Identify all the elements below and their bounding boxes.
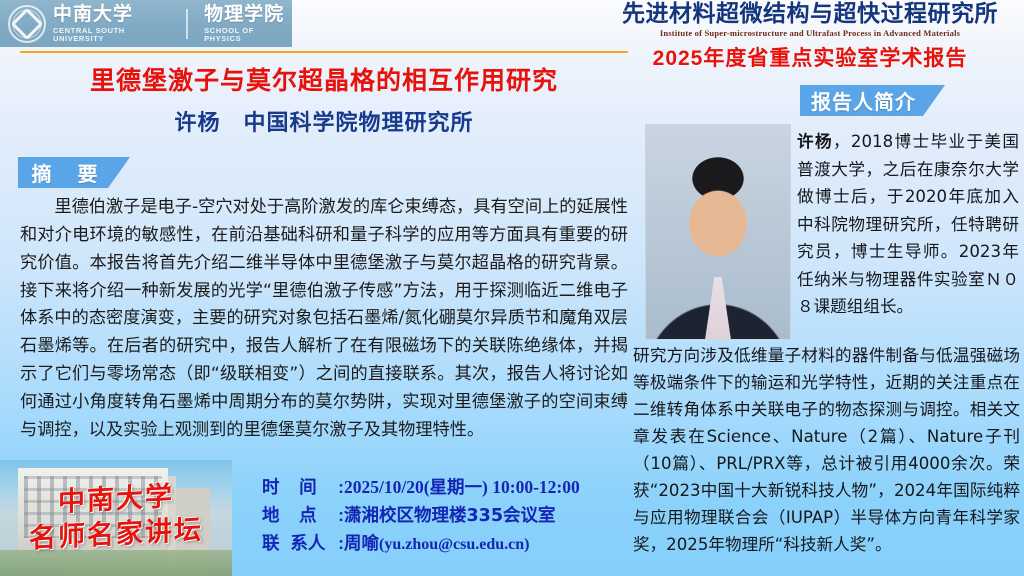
event-contact-email[interactable]: (yu.zhou@csu.edu.cn) <box>379 532 529 557</box>
forum-banner-text: 中南大学 名师名家讲坛 <box>0 476 232 557</box>
school-name-cn: 物理学院 <box>204 5 292 24</box>
csu-seal-icon <box>8 5 46 43</box>
bio-head-rest: ，2018博士毕业于美国普渡大学，之后在康奈尔大学做博士后，于2020年底加入中… <box>797 132 1019 316</box>
talk-speaker-affiliation: 许杨 中国科学院物理研究所 <box>18 105 630 137</box>
institute-name-cn: 先进材料超微结构与超快过程研究所 <box>600 1 1020 26</box>
talk-heading: 里德堡激子与莫尔超晶格的相互作用研究 许杨 中国科学院物理研究所 <box>18 66 630 137</box>
event-time-row: 时 间 : 2025/10/20(星期一) 10:00-12:00 <box>262 474 580 502</box>
brand-divider <box>186 9 188 39</box>
talk-title: 里德堡激子与莫尔超晶格的相互作用研究 <box>18 66 630 97</box>
abstract-text: 里德伯激子是电子-空穴对处于高阶激发的库仑束缚态，具有空间上的延展性和对介电环境… <box>20 194 628 445</box>
event-place-label: 地 点 : <box>262 502 344 530</box>
bio-text-head: 许杨，2018博士毕业于美国普渡大学，之后在康奈尔大学做博士后，于2020年底加… <box>797 128 1019 321</box>
gold-divider-rule <box>20 51 628 53</box>
institute-heading: 先进材料超微结构与超快过程研究所 Institute of Super-micr… <box>600 1 1020 72</box>
event-contact-name: 周喻 <box>344 531 379 559</box>
bio-text-body: 研究方向涉及低维量子材料的器件制备与低温强磁场等极端条件下的输运和光学特性，近期… <box>633 342 1020 558</box>
university-logo-band: 中南大学 CENTRAL SOUTH UNIVERSITY 物理学院 SCHOO… <box>0 0 292 47</box>
bio-section-tab: 报告人简介 <box>800 85 945 116</box>
event-details: 时 间 : 2025/10/20(星期一) 10:00-12:00 地 点 : … <box>262 474 580 559</box>
school-name-en: SCHOOL OF PHYSICS <box>204 27 292 42</box>
abstract-section-tab: 摘 要 <box>18 157 130 188</box>
event-contact-label: 联 系人 : <box>262 530 344 558</box>
forum-banner-photo: 中南大学 名师名家讲坛 <box>0 460 232 576</box>
event-time-value: 2025/10/20(星期一) 10:00-12:00 <box>344 474 580 502</box>
institute-name-en: Institute of Super-microstructure and Ul… <box>600 28 1020 38</box>
university-brand: 中南大学 CENTRAL SOUTH UNIVERSITY <box>53 5 176 42</box>
seminar-poster: 中南大学 CENTRAL SOUTH UNIVERSITY 物理学院 SCHOO… <box>0 0 1024 576</box>
lecture-series-title: 2025年度省重点实验室学术报告 <box>600 42 1020 72</box>
university-name-cn: 中南大学 <box>53 5 176 24</box>
event-time-label: 时 间 : <box>262 474 344 502</box>
speaker-portrait <box>645 124 791 340</box>
university-name-en: CENTRAL SOUTH UNIVERSITY <box>53 27 176 42</box>
event-place-value: 潇湘校区物理楼335会议室 <box>344 503 556 531</box>
event-place-row: 地 点 : 潇湘校区物理楼335会议室 <box>262 502 580 531</box>
speaker-name: 许杨 <box>797 132 833 151</box>
event-contact-row: 联 系人 : 周喻 (yu.zhou@csu.edu.cn) <box>262 530 580 559</box>
school-brand: 物理学院 SCHOOL OF PHYSICS <box>204 5 292 42</box>
